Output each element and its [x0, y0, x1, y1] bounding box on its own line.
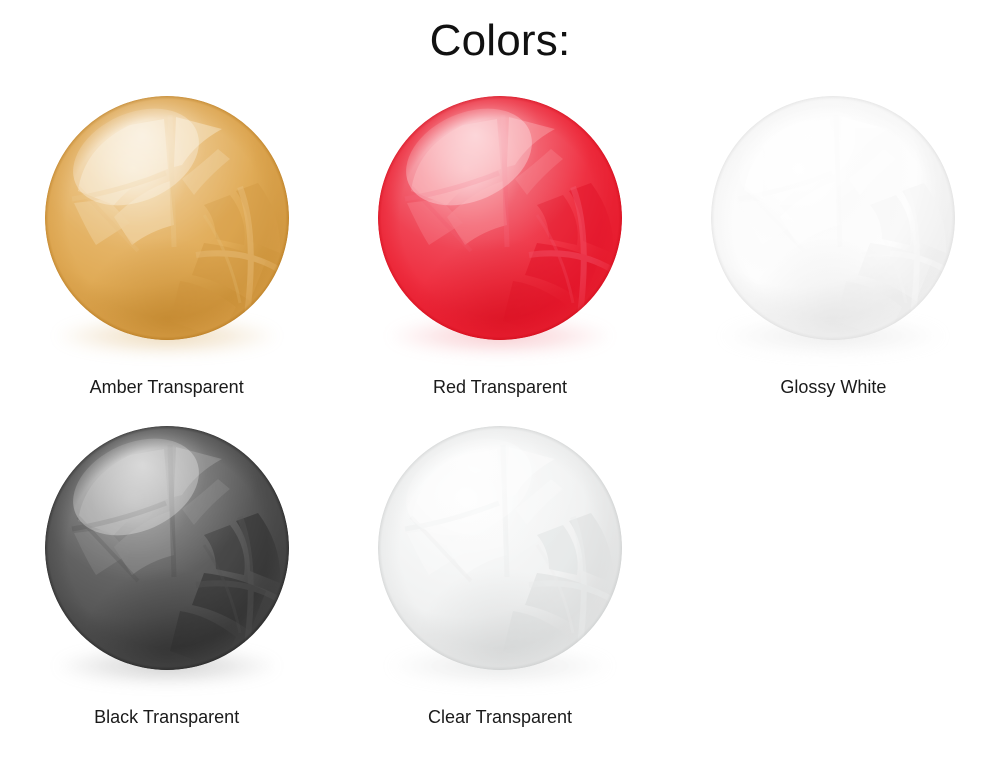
sphere-figure [377, 425, 623, 685]
color-swatch-label: Red Transparent [433, 377, 567, 399]
glossy-sphere-icon [44, 425, 290, 671]
color-swatch-label: Black Transparent [94, 707, 239, 729]
color-swatch-label: Clear Transparent [428, 707, 572, 729]
sphere-figure [44, 95, 290, 355]
glossy-sphere-icon [377, 95, 623, 341]
color-swatch-red-transparent[interactable]: Red Transparent [333, 95, 666, 425]
color-swatch-grid: Amber Transparent [0, 95, 1000, 755]
color-swatch-amber-transparent[interactable]: Amber Transparent [0, 95, 333, 425]
sphere-figure [377, 95, 623, 355]
glossy-sphere-icon [44, 95, 290, 341]
color-swatch-label: Glossy White [780, 377, 886, 399]
glossy-sphere-icon [377, 425, 623, 671]
colors-swatch-page: Colors: [0, 0, 1000, 780]
page-title: Colors: [0, 16, 1000, 67]
color-swatch-glossy-white[interactable]: Glossy White [667, 95, 1000, 425]
sphere-figure [710, 95, 956, 355]
sphere-figure [44, 425, 290, 685]
color-swatch-label: Amber Transparent [90, 377, 244, 399]
glossy-sphere-icon [710, 95, 956, 341]
color-swatch-black-transparent[interactable]: Black Transparent [0, 425, 333, 755]
color-swatch-clear-transparent[interactable]: Clear Transparent [333, 425, 666, 755]
